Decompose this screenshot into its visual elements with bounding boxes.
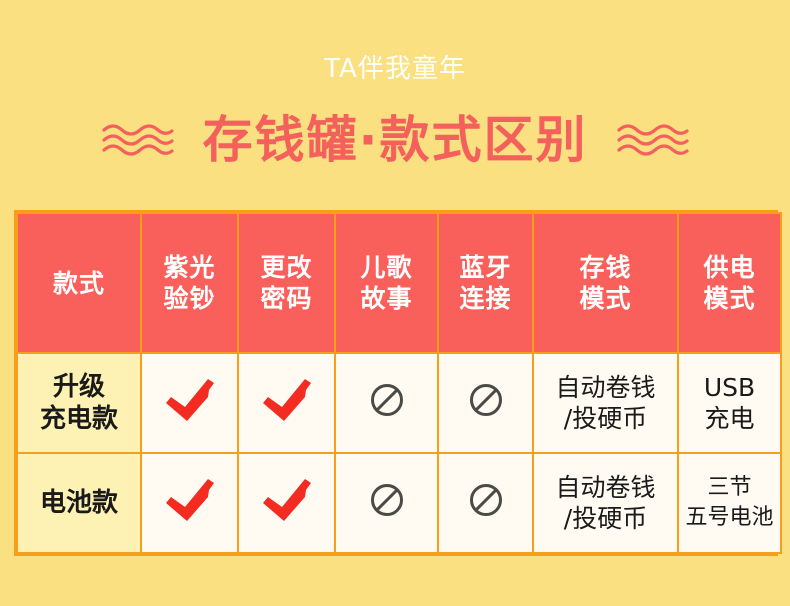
column-header-label: 紫光 — [142, 252, 237, 283]
cell-text-line: /投硬币 — [534, 503, 677, 534]
cell-saving-mode: 自动卷钱 /投硬币 — [533, 353, 678, 453]
banner-header: TA伴我童年 存钱罐·款式区别 — [0, 0, 790, 205]
cell-saving-mode: 自动卷钱 /投硬币 — [533, 453, 678, 553]
banner-title-row: 存钱罐·款式区别 — [0, 104, 790, 176]
column-header-model: 款式 — [17, 213, 141, 353]
row-label-line: 升级 — [18, 371, 140, 403]
cell-text-line: 自动卷钱 — [534, 372, 677, 403]
row-label-upgraded-rechargeable: 升级 充电款 — [17, 353, 141, 453]
check-icon — [261, 377, 313, 423]
column-header-label: 模式 — [679, 283, 780, 314]
product-spec-banner: TA伴我童年 存钱罐·款式区别 — [0, 0, 790, 606]
cell-text-line: /投硬币 — [534, 403, 677, 434]
column-header-label: 验钞 — [142, 283, 237, 314]
table-row: 升级 充电款 — [17, 353, 781, 453]
column-header-label: 供电 — [679, 252, 780, 283]
cell-change-password — [238, 453, 335, 553]
cell-songs-stories — [335, 353, 438, 453]
row-label-line: 电池款 — [18, 487, 140, 519]
column-header-label: 儿歌 — [336, 252, 437, 283]
prohibited-icon — [469, 383, 503, 417]
cell-bluetooth — [438, 353, 533, 453]
cell-text-line: 自动卷钱 — [534, 472, 677, 503]
column-header-label: 模式 — [534, 283, 677, 314]
cell-text-line: USB — [679, 372, 780, 403]
prohibited-icon — [370, 383, 404, 417]
column-header-power-mode: 供电 模式 — [678, 213, 781, 353]
column-header-label: 故事 — [336, 283, 437, 314]
cell-songs-stories — [335, 453, 438, 553]
column-header-label: 连接 — [439, 283, 532, 314]
cell-change-password — [238, 353, 335, 453]
column-header-label: 密码 — [239, 283, 334, 314]
page-title: 存钱罐·款式区别 — [203, 109, 588, 171]
column-header-label: 款式 — [18, 268, 140, 299]
table-header-row: 款式 紫光 验钞 更改 密码 儿歌 故事 蓝牙 — [17, 213, 781, 353]
check-icon — [164, 477, 216, 523]
cell-power-mode: USB 充电 — [678, 353, 781, 453]
column-header-songs-stories: 儿歌 故事 — [335, 213, 438, 353]
cell-text-line: 三节 — [679, 473, 780, 503]
column-header-label: 蓝牙 — [439, 252, 532, 283]
prohibited-icon — [370, 483, 404, 517]
cell-power-mode: 三节 五号电池 — [678, 453, 781, 553]
table-row: 电池款 — [17, 453, 781, 553]
cell-uv-check — [141, 353, 238, 453]
column-header-uv-check: 紫光 验钞 — [141, 213, 238, 353]
cell-text-line: 充电 — [679, 403, 780, 434]
row-label-line: 充电款 — [18, 403, 140, 435]
row-label-battery: 电池款 — [17, 453, 141, 553]
cell-bluetooth — [438, 453, 533, 553]
cell-uv-check — [141, 453, 238, 553]
check-icon — [261, 477, 313, 523]
column-header-saving-mode: 存钱 模式 — [533, 213, 678, 353]
check-icon — [164, 377, 216, 423]
column-header-change-password: 更改 密码 — [238, 213, 335, 353]
column-header-label: 存钱 — [534, 252, 677, 283]
prohibited-icon — [469, 483, 503, 517]
spec-comparison-table: 款式 紫光 验钞 更改 密码 儿歌 故事 蓝牙 — [14, 210, 778, 556]
column-header-label: 更改 — [239, 252, 334, 283]
wave-lines-icon — [616, 119, 690, 161]
wave-lines-icon — [101, 119, 175, 161]
column-header-bluetooth: 蓝牙 连接 — [438, 213, 533, 353]
banner-subtitle: TA伴我童年 — [0, 52, 790, 86]
cell-text-line: 五号电池 — [679, 503, 780, 533]
